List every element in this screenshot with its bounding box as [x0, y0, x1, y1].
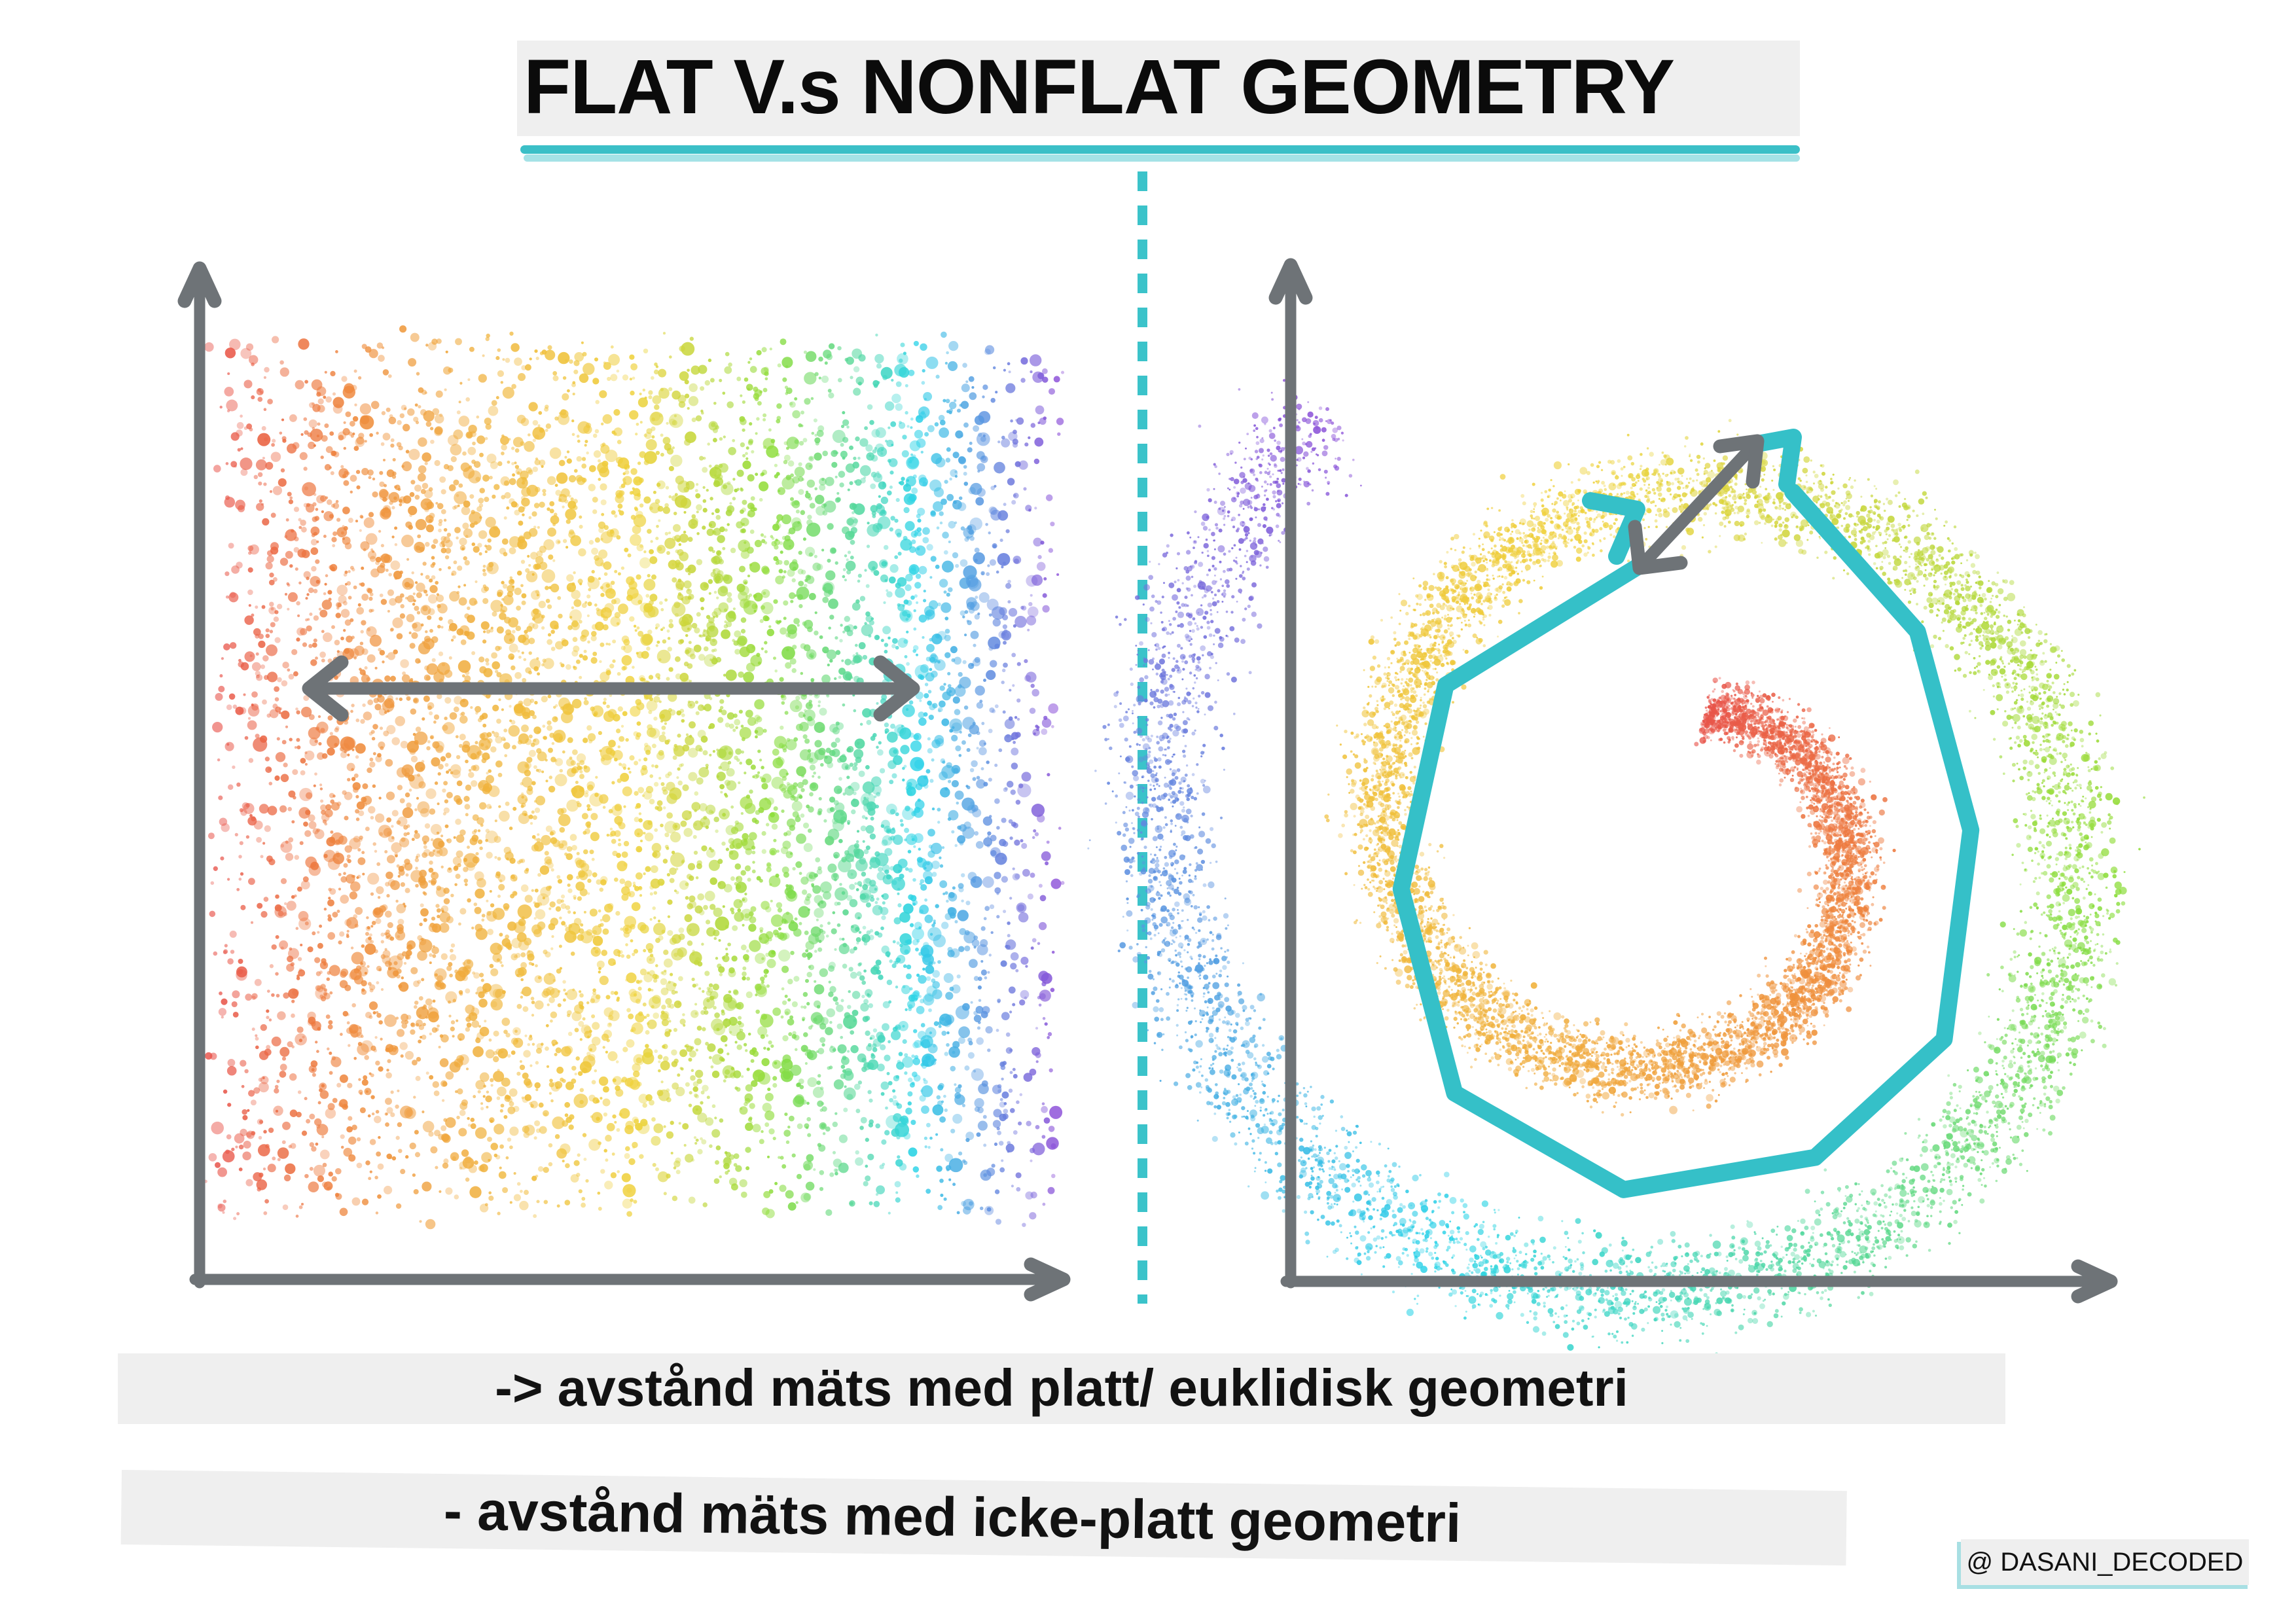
- nonflat-geometry-panel: [1263, 229, 2153, 1302]
- page-title: FLAT V.s NONFLAT GEOMETRY: [524, 38, 1800, 136]
- caption-one-text: -> avstånd mäts med platt/ euklidisk geo…: [118, 1348, 2005, 1428]
- flat-scatter-points: [204, 325, 1065, 1229]
- euclidean-distance-arrow: [309, 662, 913, 715]
- title-underline-shadow: [524, 154, 1800, 162]
- caption-two-text: - avstånd mäts med icke-platt geometri: [120, 1466, 1784, 1567]
- nonflat-scatter-points: [1087, 376, 2145, 1368]
- nonflat-panel-axes: [1276, 265, 2111, 1296]
- title-underline: [520, 145, 1800, 154]
- euclidean-chord-arrow: [1635, 441, 1757, 568]
- flat-geometry-panel: [164, 229, 1073, 1302]
- watermark: @ DASANI_DECODED: [1956, 1539, 2249, 1589]
- watermark-handle: @ DASANI_DECODED: [1961, 1539, 2249, 1585]
